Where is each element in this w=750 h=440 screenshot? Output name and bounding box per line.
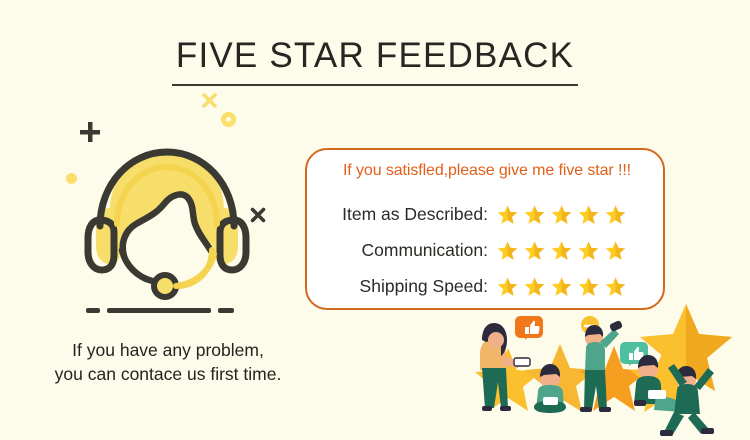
star-icon [497,240,518,261]
page-title: FIVE STAR FEEDBACK [172,34,578,86]
star-icon [605,240,626,261]
support-caption-line2: you can contace us first time. [8,362,328,386]
star-icon [524,204,545,225]
star-icon [551,204,572,225]
support-caption: If you have any problem, you can contace… [8,338,328,386]
yellow-dot-icon [66,173,77,184]
page-title-container: FIVE STAR FEEDBACK [0,34,750,86]
feedback-banner: FIVE STAR FEEDBACK [0,0,750,440]
headset-support-icon [72,122,262,312]
star-icon [524,276,545,297]
star-icon [578,276,599,297]
thumbs-up-bubble-orange [515,316,543,340]
star-icon [605,276,626,297]
rating-stars[interactable] [497,204,626,225]
star-icon [524,240,545,261]
star-icon [605,204,626,225]
rating-stars[interactable] [497,240,626,261]
feedback-heading: If you satisfled,please give me five sta… [307,162,667,180]
star-icon [578,204,599,225]
rating-row-label: Shipping Speed: [307,276,497,297]
rating-stars[interactable] [497,276,626,297]
rating-row: Communication: [307,232,667,268]
dark-x-mark-icon [250,207,266,223]
rating-row: Item as Described: [307,196,667,232]
star-icon [497,204,518,225]
yellow-ring-icon [221,112,236,127]
people-rating-stars-illustration [468,296,750,440]
star-icon [497,276,518,297]
rating-row-label: Communication: [307,240,497,261]
rating-rows: Item as Described:Communication:Shipping… [307,196,667,304]
plus-mark-icon [80,122,100,142]
support-caption-line1: If you have any problem, [8,338,328,362]
yellow-x-mark-icon [202,93,217,108]
feedback-box: If you satisfled,please give me five sta… [305,148,665,310]
star-icon [551,240,572,261]
star-icon [551,276,572,297]
rating-row-label: Item as Described: [307,204,497,225]
star-icon [578,240,599,261]
dashed-divider [86,308,234,314]
